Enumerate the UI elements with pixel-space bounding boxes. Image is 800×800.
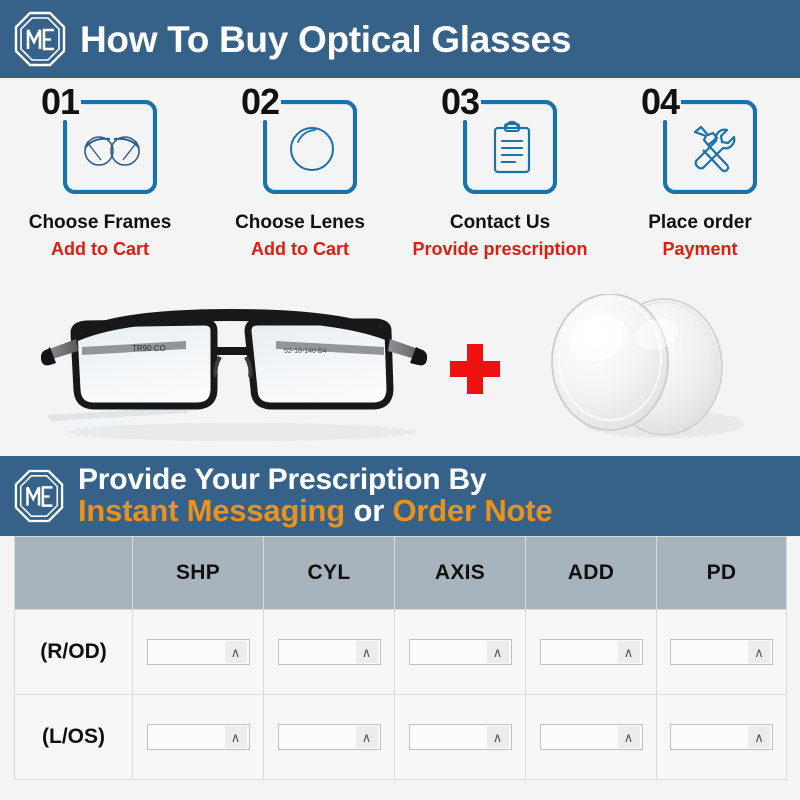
row-label-left-eye: (L/OS) xyxy=(15,695,133,780)
product-showcase: TR90 CO 52-18-140 B4 xyxy=(0,282,800,456)
prescription-banner-line2: Instant Messaging or Order Note xyxy=(78,495,552,527)
tools-icon xyxy=(681,120,743,178)
input-left-axis[interactable]: ∧ xyxy=(409,724,512,750)
input-right-cyl[interactable]: ∧ xyxy=(278,639,381,665)
step-number-3: 03 xyxy=(441,84,481,120)
cell-left-cyl: ∧ xyxy=(264,695,395,780)
column-header-blank xyxy=(15,537,133,610)
step-number-1: 01 xyxy=(41,84,81,120)
step-number-4: 04 xyxy=(641,84,681,120)
eyeglasses-photo: TR90 CO 52-18-140 B4 xyxy=(36,289,436,449)
column-header-axis: AXIS xyxy=(395,537,526,610)
column-header-pd: PD xyxy=(657,537,787,610)
svg-text:52-18-140 B4: 52-18-140 B4 xyxy=(284,348,327,355)
step-sublabel-3: Provide prescription xyxy=(412,239,587,261)
chevron-up-icon[interactable]: ∧ xyxy=(487,641,509,663)
lens-icon xyxy=(281,120,343,178)
cell-left-shp: ∧ xyxy=(133,695,264,780)
input-left-cyl[interactable]: ∧ xyxy=(278,724,381,750)
input-left-shp[interactable]: ∧ xyxy=(147,724,250,750)
step-item-1: 01 Choose Frames Add to Cart xyxy=(0,88,200,282)
step-item-3: 03 Contact Us Provide prescription xyxy=(400,88,600,282)
input-right-pd[interactable]: ∧ xyxy=(670,639,773,665)
prescription-banner: Provide Your Prescription By Instant Mes… xyxy=(0,456,800,536)
frame-engraving-left: TR90 CO xyxy=(132,344,166,353)
step-label-1: Choose Frames xyxy=(29,212,172,235)
chevron-up-icon[interactable]: ∧ xyxy=(356,726,378,748)
step-item-4: 04 Place order Payment xyxy=(600,88,800,282)
cell-right-shp: ∧ xyxy=(133,610,264,695)
or-conjunction: or xyxy=(345,493,392,528)
me-logo-icon xyxy=(14,11,66,67)
step-sublabel-1: Add to Cart xyxy=(51,239,149,261)
me-logo-icon xyxy=(14,469,64,523)
eyeglasses-icon xyxy=(81,120,143,178)
table-row: (L/OS) ∧ ∧ ∧ xyxy=(15,695,787,780)
step-icon-frame-4: 04 xyxy=(641,88,759,196)
step-item-2: 02 Choose Lenes Add to Cart xyxy=(200,88,400,282)
infographic-page: How To Buy Optical Glasses 01 xyxy=(0,0,800,800)
cell-left-add: ∧ xyxy=(526,695,657,780)
input-left-pd[interactable]: ∧ xyxy=(670,724,773,750)
chevron-up-icon[interactable]: ∧ xyxy=(618,726,640,748)
step-sublabel-4: Payment xyxy=(662,239,737,261)
prescription-banner-text: Provide Your Prescription By Instant Mes… xyxy=(78,465,552,527)
row-label-right-eye: (R/OD) xyxy=(15,610,133,695)
clipboard-icon xyxy=(481,120,543,178)
cell-right-add: ∧ xyxy=(526,610,657,695)
column-header-shp: SHP xyxy=(133,537,264,610)
cell-left-axis: ∧ xyxy=(395,695,526,780)
page-title: How To Buy Optical Glasses xyxy=(80,21,571,58)
table-header-row: SHP CYL AXIS ADD PD xyxy=(15,537,787,610)
step-label-4: Place order xyxy=(648,212,752,235)
chevron-up-icon[interactable]: ∧ xyxy=(487,726,509,748)
input-left-add[interactable]: ∧ xyxy=(540,724,643,750)
step-icon-frame-1: 01 xyxy=(41,88,159,196)
input-right-add[interactable]: ∧ xyxy=(540,639,643,665)
input-right-shp[interactable]: ∧ xyxy=(147,639,250,665)
steps-row: 01 Choose Frames Add to Cart xyxy=(0,78,800,282)
chevron-up-icon[interactable]: ∧ xyxy=(356,641,378,663)
cell-right-cyl: ∧ xyxy=(264,610,395,695)
cell-left-pd: ∧ xyxy=(657,695,787,780)
prescription-banner-line1: Provide Your Prescription By xyxy=(78,465,552,496)
optical-lenses-photo xyxy=(514,294,764,444)
column-header-add: ADD xyxy=(526,537,657,610)
cell-right-pd: ∧ xyxy=(657,610,787,695)
instant-messaging-text: Instant Messaging xyxy=(78,493,345,528)
chevron-up-icon[interactable]: ∧ xyxy=(748,726,770,748)
chevron-up-icon[interactable]: ∧ xyxy=(225,641,247,663)
step-number-2: 02 xyxy=(241,84,281,120)
step-sublabel-2: Add to Cart xyxy=(251,239,349,261)
chevron-up-icon[interactable]: ∧ xyxy=(748,641,770,663)
prescription-table: SHP CYL AXIS ADD PD (R/OD) ∧ xyxy=(14,536,787,780)
step-icon-frame-3: 03 xyxy=(441,88,559,196)
step-label-3: Contact Us xyxy=(450,212,550,235)
order-note-text: Order Note xyxy=(392,493,552,528)
step-label-2: Choose Lenes xyxy=(235,212,365,235)
header-banner: How To Buy Optical Glasses xyxy=(0,0,800,78)
step-icon-frame-2: 02 xyxy=(241,88,359,196)
cell-right-axis: ∧ xyxy=(395,610,526,695)
chevron-up-icon[interactable]: ∧ xyxy=(618,641,640,663)
input-right-axis[interactable]: ∧ xyxy=(409,639,512,665)
chevron-up-icon[interactable]: ∧ xyxy=(225,726,247,748)
plus-symbol xyxy=(448,342,502,396)
prescription-table-wrap: SHP CYL AXIS ADD PD (R/OD) ∧ xyxy=(0,536,800,780)
column-header-cyl: CYL xyxy=(264,537,395,610)
table-row: (R/OD) ∧ ∧ ∧ xyxy=(15,610,787,695)
